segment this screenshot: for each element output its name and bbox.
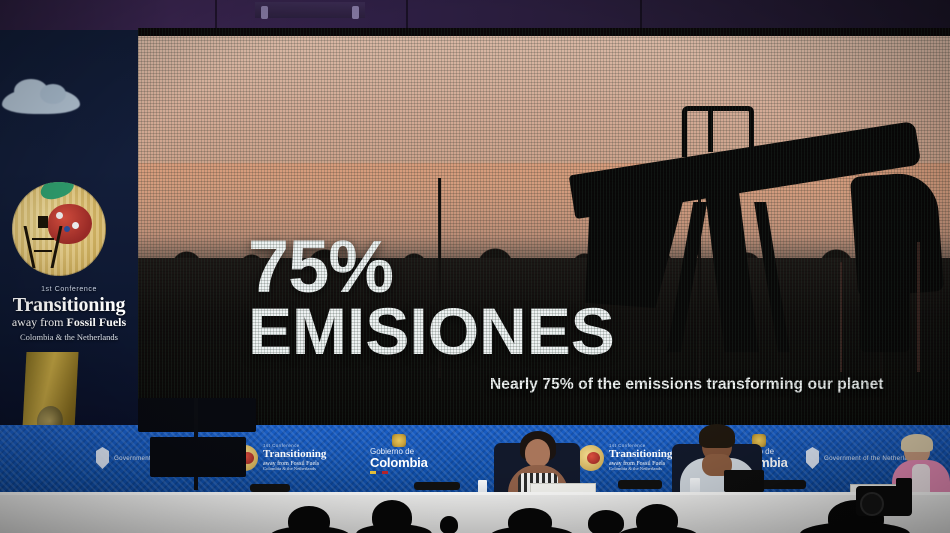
cloud-icon (2, 88, 80, 114)
colombia-coat-of-arms-icon (392, 434, 406, 447)
side-banner-eyebrow: 1st Conference (0, 286, 138, 293)
audience-silhouette (588, 510, 624, 533)
side-banner-subtitle-a: away from (12, 315, 67, 329)
netherlands-coat-of-arms-icon (806, 447, 819, 469)
backdrop-logo-line3: Colombia & the Netherlands (609, 467, 672, 472)
backdrop-logo-conference: 1st Conference Transitioning away from F… (578, 438, 672, 478)
conference-emblem-icon (12, 182, 106, 276)
ceiling-seam (215, 0, 217, 30)
slide-percent: 75% (248, 233, 393, 301)
audience-silhouette (440, 516, 458, 533)
ceiling (0, 0, 950, 30)
side-banner-subtitle-b: Fossil Fuels (66, 315, 126, 329)
left-side-panel: 1st Conference Transitioning away from F… (0, 30, 138, 425)
camera-viewfinder (896, 478, 912, 492)
ceiling-seam (640, 0, 642, 30)
camera-lens-icon (860, 492, 884, 516)
netherlands-coat-of-arms-icon (96, 447, 109, 469)
conference-stage-photo: 1st Conference Transitioning away from F… (0, 0, 950, 533)
microphone (414, 482, 460, 490)
nameplate-text (531, 487, 595, 491)
ceiling-light-rig (255, 2, 365, 18)
backdrop-logo-conference: 1st Conference Transitioning away from F… (232, 438, 326, 478)
backdrop-logo-colombia: Gobierno de Colombia (370, 434, 428, 474)
slide-subtitle: Nearly 75% of the emissions transforming… (490, 376, 884, 394)
backdrop-logo-line2: Colombia (370, 456, 428, 470)
microphone (760, 480, 806, 489)
led-screen: 75% EMISIONES Nearly 75% of the emission… (138, 28, 950, 425)
side-banner-subtitle: away from Fossil Fuels (0, 315, 138, 330)
laptop (724, 470, 764, 492)
slide-headline: EMISIONES (248, 300, 615, 363)
ceiling-seam (406, 0, 408, 30)
backdrop-logo-line1: Transitioning (263, 449, 326, 461)
side-banner-countries: Colombia & the Netherlands (0, 332, 138, 342)
backdrop-logo-line3: Colombia & the Netherlands (263, 467, 326, 472)
backdrop-logo-line1: Transitioning (609, 449, 672, 461)
microphone (250, 484, 290, 492)
microphone (618, 480, 662, 489)
desk-edge (0, 492, 950, 495)
stage-light-silhouette (150, 437, 246, 477)
side-banner-title: Transitioning (0, 294, 138, 317)
